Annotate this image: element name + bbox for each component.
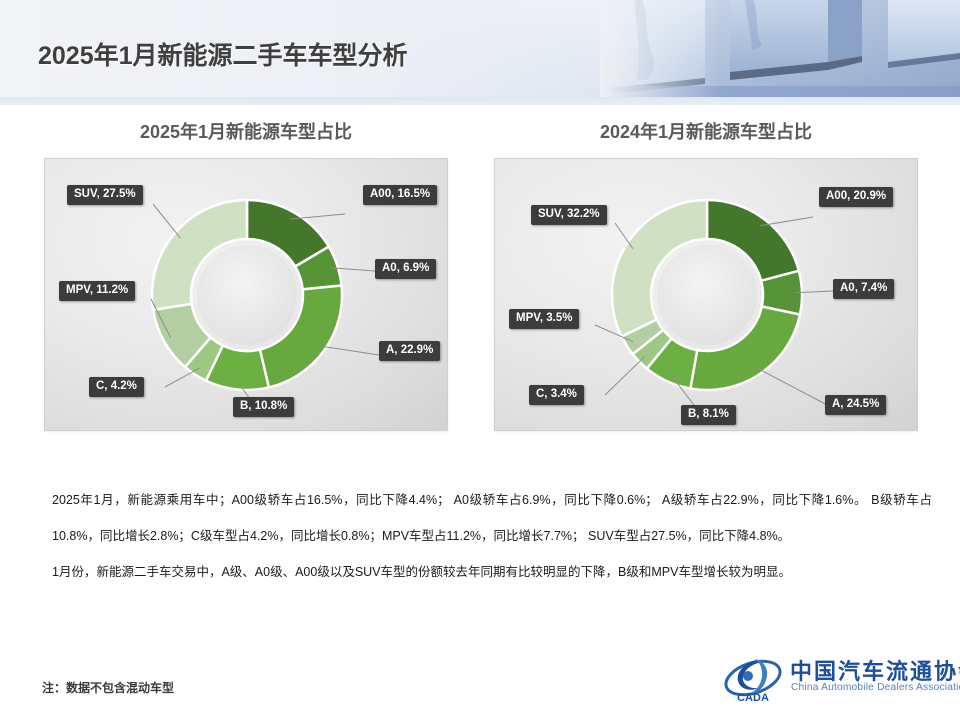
label-mpv-2024: MPV, 3.5% [509,309,579,329]
leader-line [318,346,379,355]
leader-line [756,368,831,408]
label-a0-2024: A0, 7.4% [833,279,894,299]
label-suv-2025: SUV, 27.5% [67,185,143,205]
page-title: 2025年1月新能源二手车车型分析 [38,36,408,72]
leader-line [153,204,181,238]
label-mpv-2025: MPV, 11.2% [59,281,135,301]
label-a00-2025: A00, 16.5% [363,185,437,205]
leader-line [165,368,199,387]
analysis-paragraph-2: 1月份，新能源二手车交易中，A级、A0级、A00级以及SUV车型的份额较去年同期… [52,554,932,590]
label-a-2024: A, 24.5% [825,395,886,415]
analysis-text: 2025年1月，新能源乘用车中；A00级轿车占16.5%，同比下降4.4%； A… [52,482,932,590]
donut-hole [657,245,757,345]
chart-title-2025: 2025年1月新能源车型占比 [44,118,448,144]
cada-abbr: CADA [737,692,769,704]
footnote: 注：数据不包含混动车型 [42,679,174,696]
blue-cubes-graphic [600,0,960,105]
analysis-paragraph-1: 2025年1月，新能源乘用车中；A00级轿车占16.5%，同比下降4.4%； A… [52,482,932,554]
logo-title-en: China Automobile Dealers Association [791,682,960,693]
label-suv-2024: SUV, 32.2% [531,205,607,225]
cada-logo: CADA 中国汽车流通协会 China Automobile Dealers A… [722,652,932,706]
chart-block-2024: 2024年1月新能源车型占比 SUV, 32.2% A00, 20.9% A0,… [494,118,918,431]
label-a00-2024: A00, 20.9% [819,187,893,207]
leader-line [615,223,633,249]
page-header: 2025年1月新能源二手车车型分析 [0,0,960,105]
donut-hole [197,245,297,345]
chart-panel-2025: SUV, 27.5% A00, 16.5% A0, 6.9% A, 22.9% … [44,158,448,431]
label-c-2025: C, 4.2% [89,377,144,397]
label-b-2025: B, 10.8% [233,397,294,417]
cada-logo-mark-icon: CADA [722,654,784,704]
label-c-2024: C, 3.4% [529,385,584,405]
header-baseline [0,97,960,105]
label-a0-2025: A0, 6.9% [375,259,436,279]
chart-block-2025: 2025年1月新能源车型占比 SUV, 27.5% A00, 16.5% A0,… [44,118,448,431]
label-b-2024: B, 8.1% [681,405,736,425]
label-a-2025: A, 22.9% [379,341,440,361]
chart-title-2024: 2024年1月新能源车型占比 [494,118,918,144]
leader-line [605,357,645,396]
chart-panel-2024: SUV, 32.2% A00, 20.9% A0, 7.4% A, 24.5% … [494,158,918,431]
